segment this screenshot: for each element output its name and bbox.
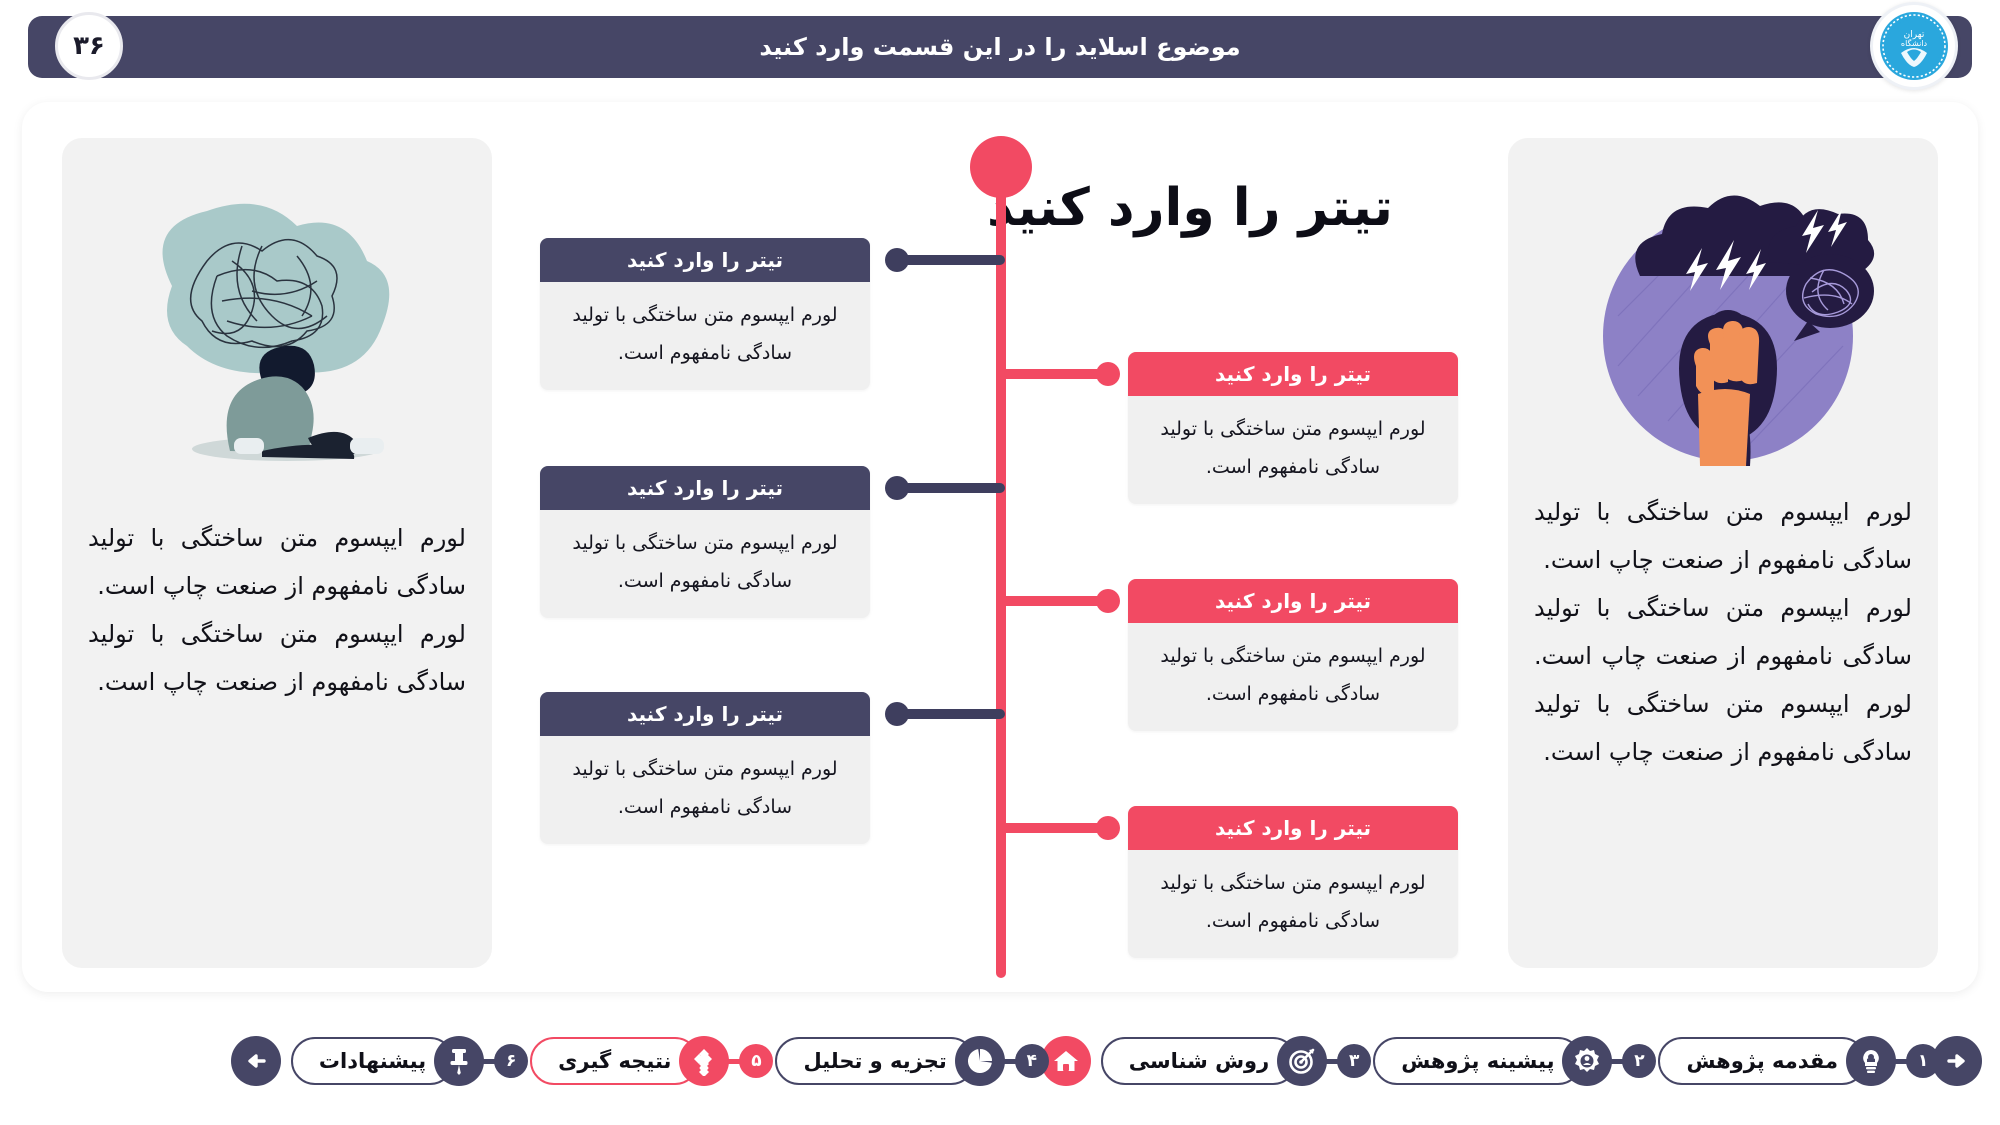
nav-icon-5[interactable]	[679, 1036, 729, 1086]
timeline-card-right-2[interactable]: تیتر را وارد کنید لورم ایپسوم متن ساختگی…	[1128, 579, 1458, 731]
svg-text:دانشگاه: دانشگاه	[1901, 38, 1928, 48]
puzzle-icon	[689, 1046, 719, 1076]
timeline-card-right-1-body: لورم ایپسوم متن ساختگی با تولید سادگی نا…	[1128, 396, 1458, 504]
timeline-card-right-3[interactable]: تیتر را وارد کنید لورم ایپسوم متن ساختگی…	[1128, 806, 1458, 958]
nav-item-group-4[interactable]: ۴ تجزیه و تحلیل	[775, 1036, 1040, 1086]
timeline-card-right-2-title: تیتر را وارد کنید	[1128, 579, 1458, 623]
home-icon	[1052, 1047, 1080, 1075]
right-card-paragraph-2: لورم ایپسوم متن ساختگی با تولید سادگی نا…	[1534, 584, 1912, 776]
section-title: تیتر را وارد کنید	[880, 178, 1500, 238]
timeline-connector-right-1	[1000, 369, 1110, 379]
timeline-dot-right-1	[1096, 362, 1120, 386]
nav-pill-4[interactable]: تجزیه و تحلیل	[775, 1037, 974, 1085]
timeline-card-left-1-body: لورم ایپسوم متن ساختگی با تولید سادگی نا…	[540, 282, 870, 390]
nav-icon-3[interactable]	[1277, 1036, 1327, 1086]
nav-number-5: ۵	[739, 1044, 773, 1078]
timeline-dot-left-1	[885, 248, 909, 272]
right-info-card: لورم ایپسوم متن ساختگی با تولید سادگی نا…	[1508, 138, 1938, 968]
gear-person-icon	[1572, 1046, 1602, 1076]
arrow-right-icon	[1943, 1047, 1971, 1075]
slide-number-text: ۳۶	[73, 31, 105, 61]
timeline-connector-left-3	[895, 709, 1005, 719]
slide-root: موضوع اسلاید را در این قسمت وارد کنید ۳۶…	[0, 0, 2000, 1125]
timeline-card-left-1-title: تیتر را وارد کنید	[540, 238, 870, 282]
timeline-dot-right-3	[1096, 816, 1120, 840]
left-card-paragraph-2: لورم ایپسوم متن ساختگی با تولید سادگی نا…	[88, 610, 466, 706]
timeline-connector-left-1	[895, 255, 1005, 265]
timeline-spine	[996, 168, 1006, 978]
page-title: موضوع اسلاید را در این قسمت وارد کنید	[759, 33, 1240, 61]
nav-item-group-6[interactable]: ۶ پیشنهادات	[291, 1036, 520, 1086]
nav-icon-1[interactable]	[1846, 1036, 1896, 1086]
timeline-card-right-3-title: تیتر را وارد کنید	[1128, 806, 1458, 850]
nav-icon-6[interactable]	[434, 1036, 484, 1086]
nav-pill-5[interactable]: نتیجه گیری	[530, 1037, 699, 1085]
left-card-paragraph-1: لورم ایپسوم متن ساختگی با تولید سادگی نا…	[88, 514, 466, 610]
bottom-navigation: ۱ مقدمه پژوهش ۲	[0, 1012, 2000, 1110]
nav-number-6: ۶	[494, 1044, 528, 1078]
nav-item-group-1[interactable]: ۱ مقدمه پژوهش	[1658, 1036, 1932, 1086]
nav-pill-1[interactable]: مقدمه پژوهش	[1658, 1037, 1866, 1085]
timeline-card-right-2-body: لورم ایپسوم متن ساختگی با تولید سادگی نا…	[1128, 623, 1458, 731]
timeline-dot-right-2	[1096, 589, 1120, 613]
timeline-card-right-3-body: لورم ایپسوم متن ساختگی با تولید سادگی نا…	[1128, 850, 1458, 958]
nav-icon-4[interactable]	[955, 1036, 1005, 1086]
right-card-text: لورم ایپسوم متن ساختگی با تولید سادگی نا…	[1534, 488, 1912, 776]
header-bar: موضوع اسلاید را در این قسمت وارد کنید	[28, 16, 1972, 78]
nav-number-1: ۱	[1906, 1044, 1940, 1078]
person-sitting-with-tangled-thoughts-illustration	[112, 166, 442, 466]
nav-icon-2[interactable]	[1562, 1036, 1612, 1086]
stressed-woman-with-storm-clouds-illustration	[1558, 166, 1888, 466]
timeline-card-left-2[interactable]: تیتر را وارد کنید لورم ایپسوم متن ساختگی…	[540, 466, 870, 618]
timeline-card-left-2-title: تیتر را وارد کنید	[540, 466, 870, 510]
timeline-card-right-1-title: تیتر را وارد کنید	[1128, 352, 1458, 396]
nav-pill-6[interactable]: پیشنهادات	[291, 1037, 454, 1085]
nav-number-3: ۳	[1337, 1044, 1371, 1078]
target-dart-icon	[1287, 1046, 1317, 1076]
timeline-card-left-2-body: لورم ایپسوم متن ساختگی با تولید سادگی نا…	[540, 510, 870, 618]
timeline-connector-right-3	[1000, 823, 1110, 833]
timeline-dot-left-2	[885, 476, 909, 500]
university-logo: تهران دانشگاه	[1870, 2, 1958, 90]
timeline-card-left-3-title: تیتر را وارد کنید	[540, 692, 870, 736]
left-info-card: لورم ایپسوم متن ساختگی با تولید سادگی نا…	[62, 138, 492, 968]
nav-item-group-5[interactable]: ۵ نتیجه گیری	[530, 1036, 765, 1086]
previous-slide-button[interactable]	[231, 1036, 281, 1086]
nav-pill-3[interactable]: روش شناسی	[1101, 1037, 1297, 1085]
nav-pill-2[interactable]: پیشینه پژوهش	[1373, 1037, 1582, 1085]
timeline-card-left-1[interactable]: تیتر را وارد کنید لورم ایپسوم متن ساختگی…	[540, 238, 870, 390]
timeline-card-right-1[interactable]: تیتر را وارد کنید لورم ایپسوم متن ساختگی…	[1128, 352, 1458, 504]
timeline-connector-left-2	[895, 483, 1005, 493]
timeline-connector-right-2	[1000, 596, 1110, 606]
timeline-card-left-3[interactable]: تیتر را وارد کنید لورم ایپسوم متن ساختگی…	[540, 692, 870, 844]
arrow-left-icon	[242, 1047, 270, 1075]
university-of-tehran-logo-icon: تهران دانشگاه	[1877, 9, 1951, 83]
nav-item-group-3[interactable]: ۳ روش شناسی	[1101, 1036, 1363, 1086]
nav-number-2: ۲	[1622, 1044, 1656, 1078]
left-card-text: لورم ایپسوم متن ساختگی با تولید سادگی نا…	[88, 514, 466, 706]
nav-item-group-2[interactable]: ۲ پیشینه پژوهش	[1373, 1036, 1648, 1086]
right-card-paragraph-1: لورم ایپسوم متن ساختگی با تولید سادگی نا…	[1534, 488, 1912, 584]
pin-icon	[444, 1046, 474, 1076]
nav-number-4: ۴	[1015, 1044, 1049, 1078]
lightbulb-person-icon	[1856, 1046, 1886, 1076]
slide-header: موضوع اسلاید را در این قسمت وارد کنید ۳۶…	[0, 0, 2000, 96]
timeline-card-left-3-body: لورم ایپسوم متن ساختگی با تولید سادگی نا…	[540, 736, 870, 844]
timeline-dot-left-3	[885, 702, 909, 726]
pie-chart-icon	[965, 1046, 995, 1076]
slide-number-badge: ۳۶	[55, 12, 123, 80]
